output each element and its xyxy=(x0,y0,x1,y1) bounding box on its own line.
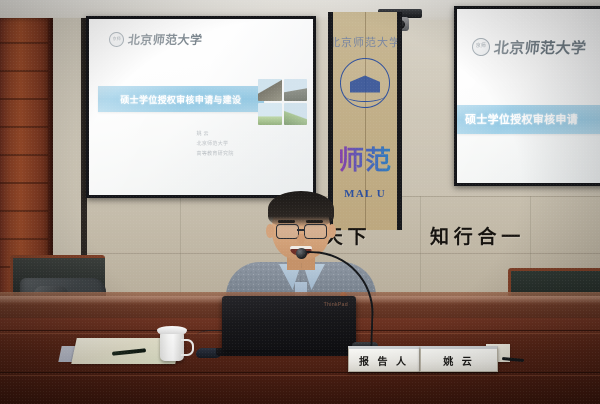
glasses-lens-left xyxy=(276,224,299,239)
wall-panel-joint xyxy=(420,196,421,306)
ear-left xyxy=(266,224,274,238)
slide-right: 京师 北京师范大学 硕士学位授权审核申请 xyxy=(457,9,600,183)
slide-subtitle-line: 姚 云 xyxy=(197,130,234,137)
nose xyxy=(297,234,305,244)
slide-thumbnail xyxy=(284,79,308,101)
slide-logo-left: 京师 北京师范大学 xyxy=(109,31,202,48)
projection-screen-right: 京师 北京师范大学 硕士学位授权审核申请 xyxy=(454,6,600,186)
conference-room-photo: 北京师范大学 师范 MAL U 京师 北京师范大学 硕士学位授权审核申请与建设 … xyxy=(0,0,600,404)
slide-university-name: 北京师范大学 xyxy=(127,31,203,48)
slide-title-band: 硕士学位授权审核申请与建设 xyxy=(98,86,264,112)
slide-thumbnail xyxy=(258,79,282,101)
slide-title-band: 硕士学位授权审核申请 xyxy=(457,105,600,135)
slide-university-name: 北京师范大学 xyxy=(493,37,588,58)
slide-thumbnail-grid xyxy=(258,79,307,125)
bnu-emblem-icon xyxy=(340,58,390,108)
slide-title-text: 硕士学位授权审核申请 xyxy=(465,111,578,127)
glasses-bridge xyxy=(297,229,304,231)
teacup-lid xyxy=(157,326,187,334)
eyebrow-right xyxy=(306,220,323,223)
slide-left: 京师 北京师范大学 硕士学位授权审核申请与建设 姚 云 北京师范大学 高等教育研… xyxy=(89,19,313,195)
slide-logo-right: 京师 北京师范大学 xyxy=(472,37,586,58)
nameplate-name-text: 姚 云 xyxy=(443,353,475,368)
emblem-arc xyxy=(345,89,385,102)
nameplate-role-text: 报 告 人 xyxy=(359,353,409,368)
slide-subtitle-line: 北京师范大学 xyxy=(197,140,234,147)
slide-thumbnail xyxy=(284,103,308,125)
slide-subtitle-line: 高等教育研究院 xyxy=(197,150,234,157)
nameplate-name: 姚 云 xyxy=(420,346,498,372)
eyebrow-left xyxy=(278,220,295,223)
university-seal-icon: 京师 xyxy=(472,38,490,56)
glasses-lens-right xyxy=(304,224,327,239)
nameplate-role: 报 告 人 xyxy=(348,346,420,372)
slide-subtitle-block: 姚 云 北京师范大学 高等教育研究院 xyxy=(197,130,234,157)
microphone-head-icon xyxy=(296,248,307,259)
university-seal-icon: 京师 xyxy=(109,32,124,47)
desk-highlight-line xyxy=(0,375,600,376)
wall-panel-joint xyxy=(180,196,181,306)
projection-screen-left: 京师 北京师范大学 硕士学位授权审核申请与建设 姚 云 北京师范大学 高等教育研… xyxy=(86,16,316,198)
slide-title-text: 硕士学位授权审核申请与建设 xyxy=(120,93,241,106)
banner-big-text: 师范 xyxy=(338,140,392,177)
banner-top-text: 北京师范大学 xyxy=(329,34,401,50)
ear-right xyxy=(328,224,336,238)
slide-thumbnail xyxy=(258,103,282,125)
desk-edge-line xyxy=(0,372,600,373)
teacup-handle xyxy=(181,339,194,356)
